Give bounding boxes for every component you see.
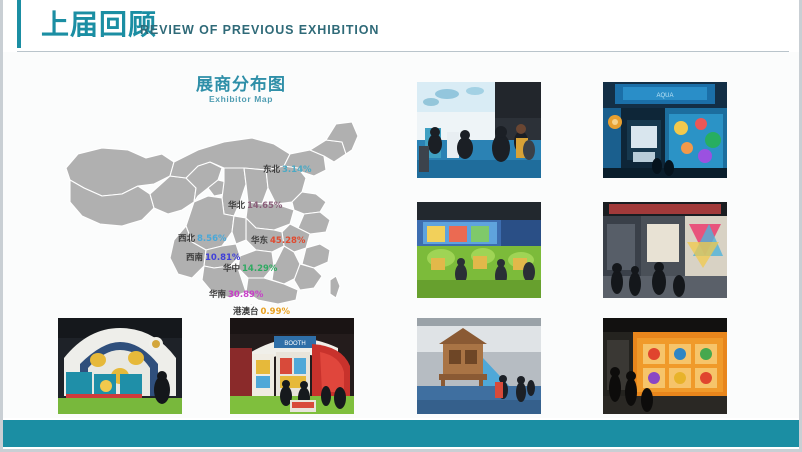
photo-r3-c3-image [417,318,541,414]
map-label-huanan-name: 华南 [209,290,226,300]
photo-r3-c4-image [603,318,727,414]
svg-text:BOOTH: BOOTH [284,341,305,347]
photo-r3-c4[interactable] [603,318,727,414]
map-label-gangaotai-name: 港澳台 [233,307,259,317]
map-label-huanan: 华南30.89% [209,290,263,300]
photo-r3-c2-image: BOOTH [230,318,354,414]
photo-r2-c3-image [417,202,541,298]
map-label-xinan-value: 10.81% [205,253,240,263]
slide-content: 展商分布图 Exhibitor Map [3,52,799,418]
footer-strip [0,447,802,452]
photo-r3-c1[interactable] [58,318,182,414]
photo-r1-c3[interactable] [417,82,541,178]
map-label-huabei: 华北14.65% [228,201,282,211]
photo-r1-c4[interactable]: AQUA [603,82,727,178]
map-label-dongbei-name: 东北 [263,165,280,175]
header-accent-bar [17,0,21,48]
map-label-xibei-name: 西北 [178,234,195,244]
map-label-huazhong: 华中14.29% [223,264,277,274]
photo-r1-c4-image: AQUA [603,82,727,178]
map-label-huadong-value: 45.28% [270,236,305,246]
photo-r1-c3-image [417,82,541,178]
footer-bar [3,420,799,447]
photo-r3-c1-image [58,318,182,414]
map-label-dongbei: 东北3.14% [263,165,312,175]
map-label-xinan-name: 西南 [186,253,203,263]
map-label-xibei: 西北8.56% [178,234,227,244]
map-label-gangaotai: 港澳台0.99% [233,307,290,317]
photo-r2-c4-image [603,202,727,298]
map-label-huanan-value: 30.89% [228,290,263,300]
map-label-xibei-value: 8.56% [197,234,227,244]
map-label-huadong-name: 华东 [251,236,268,246]
photo-r3-c2[interactable]: BOOTH [230,318,354,414]
map-label-huadong: 华东45.28% [251,236,305,246]
svg-text:AQUA: AQUA [656,93,673,99]
exhibitor-map-panel: 展商分布图 Exhibitor Map [58,70,388,310]
map-label-xinan: 西南10.81% [186,253,240,263]
map-label-huazhong-value: 14.29% [242,264,277,274]
map-label-huabei-value: 14.65% [247,201,282,211]
photo-r2-c4[interactable] [603,202,727,298]
page-title-en: REVIEW OF PREVIOUS EXHIBITION [140,23,379,37]
map-label-dongbei-value: 3.14% [282,165,312,175]
china-map-graphic [58,110,358,305]
map-title-en: Exhibitor Map [166,94,316,104]
map-label-gangaotai-value: 0.99% [261,307,291,317]
slide-header: 上届回顾 REVIEW OF PREVIOUS EXHIBITION [3,0,799,52]
slide-root: 上届回顾 REVIEW OF PREVIOUS EXHIBITION 展商分布图… [0,0,802,452]
map-label-huabei-name: 华北 [228,201,245,211]
map-title-cn: 展商分布图 [166,70,316,95]
photo-r3-c3[interactable] [417,318,541,414]
photo-r2-c3[interactable] [417,202,541,298]
map-label-huazhong-name: 华中 [223,264,240,274]
